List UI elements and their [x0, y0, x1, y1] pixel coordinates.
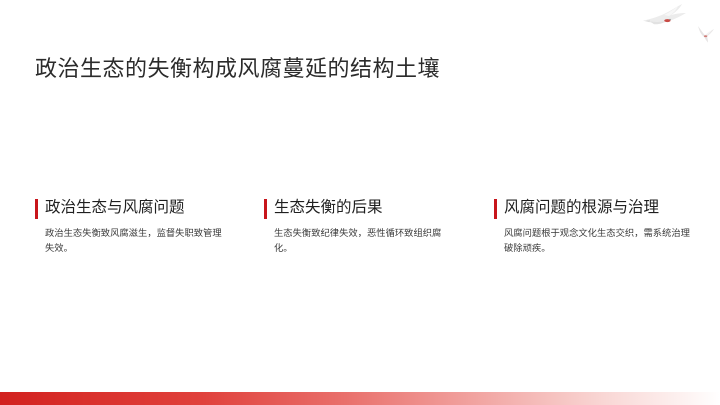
- accent-bar-icon: [264, 199, 267, 219]
- column-body-text: 风腐问题根于观念文化生态交织，需系统治理破除顽疾。: [494, 226, 694, 256]
- content-columns: 政治生态与风腐问题 政治生态失衡致风腐滋生，监督失职致管理失效。 生态失衡的后果…: [0, 197, 720, 287]
- bottom-gradient-bar: [0, 392, 720, 405]
- column-body-text: 政治生态失衡致风腐滋生，监督失职致管理失效。: [35, 226, 227, 256]
- column-header: 生态失衡的后果: [264, 197, 464, 221]
- column-title: 风腐问题的根源与治理: [504, 199, 659, 216]
- accent-bar-icon: [35, 199, 38, 219]
- flying-dove-large-icon: [640, 2, 692, 34]
- content-column-3: 风腐问题的根源与治理 风腐问题根于观念文化生态交织，需系统治理破除顽疾。: [494, 197, 694, 256]
- column-title: 生态失衡的后果: [274, 199, 383, 216]
- column-title: 政治生态与风腐问题: [45, 199, 185, 216]
- column-header: 政治生态与风腐问题: [35, 197, 235, 221]
- flying-dove-small-icon: [694, 22, 718, 44]
- slide-canvas: 政治生态的失衡构成风腐蔓延的结构土壤 政治生态与风腐问题 政治生态失衡致风腐滋生…: [0, 0, 720, 405]
- content-column-2: 生态失衡的后果 生态失衡致纪律失效，恶性循环致组织腐化。: [264, 197, 464, 256]
- page-title: 政治生态的失衡构成风腐蔓延的结构土壤: [35, 54, 440, 84]
- content-column-1: 政治生态与风腐问题 政治生态失衡致风腐滋生，监督失职致管理失效。: [35, 197, 235, 256]
- accent-bar-icon: [494, 199, 497, 219]
- column-body-text: 生态失衡致纪律失效，恶性循环致组织腐化。: [264, 226, 456, 256]
- column-header: 风腐问题的根源与治理: [494, 197, 694, 221]
